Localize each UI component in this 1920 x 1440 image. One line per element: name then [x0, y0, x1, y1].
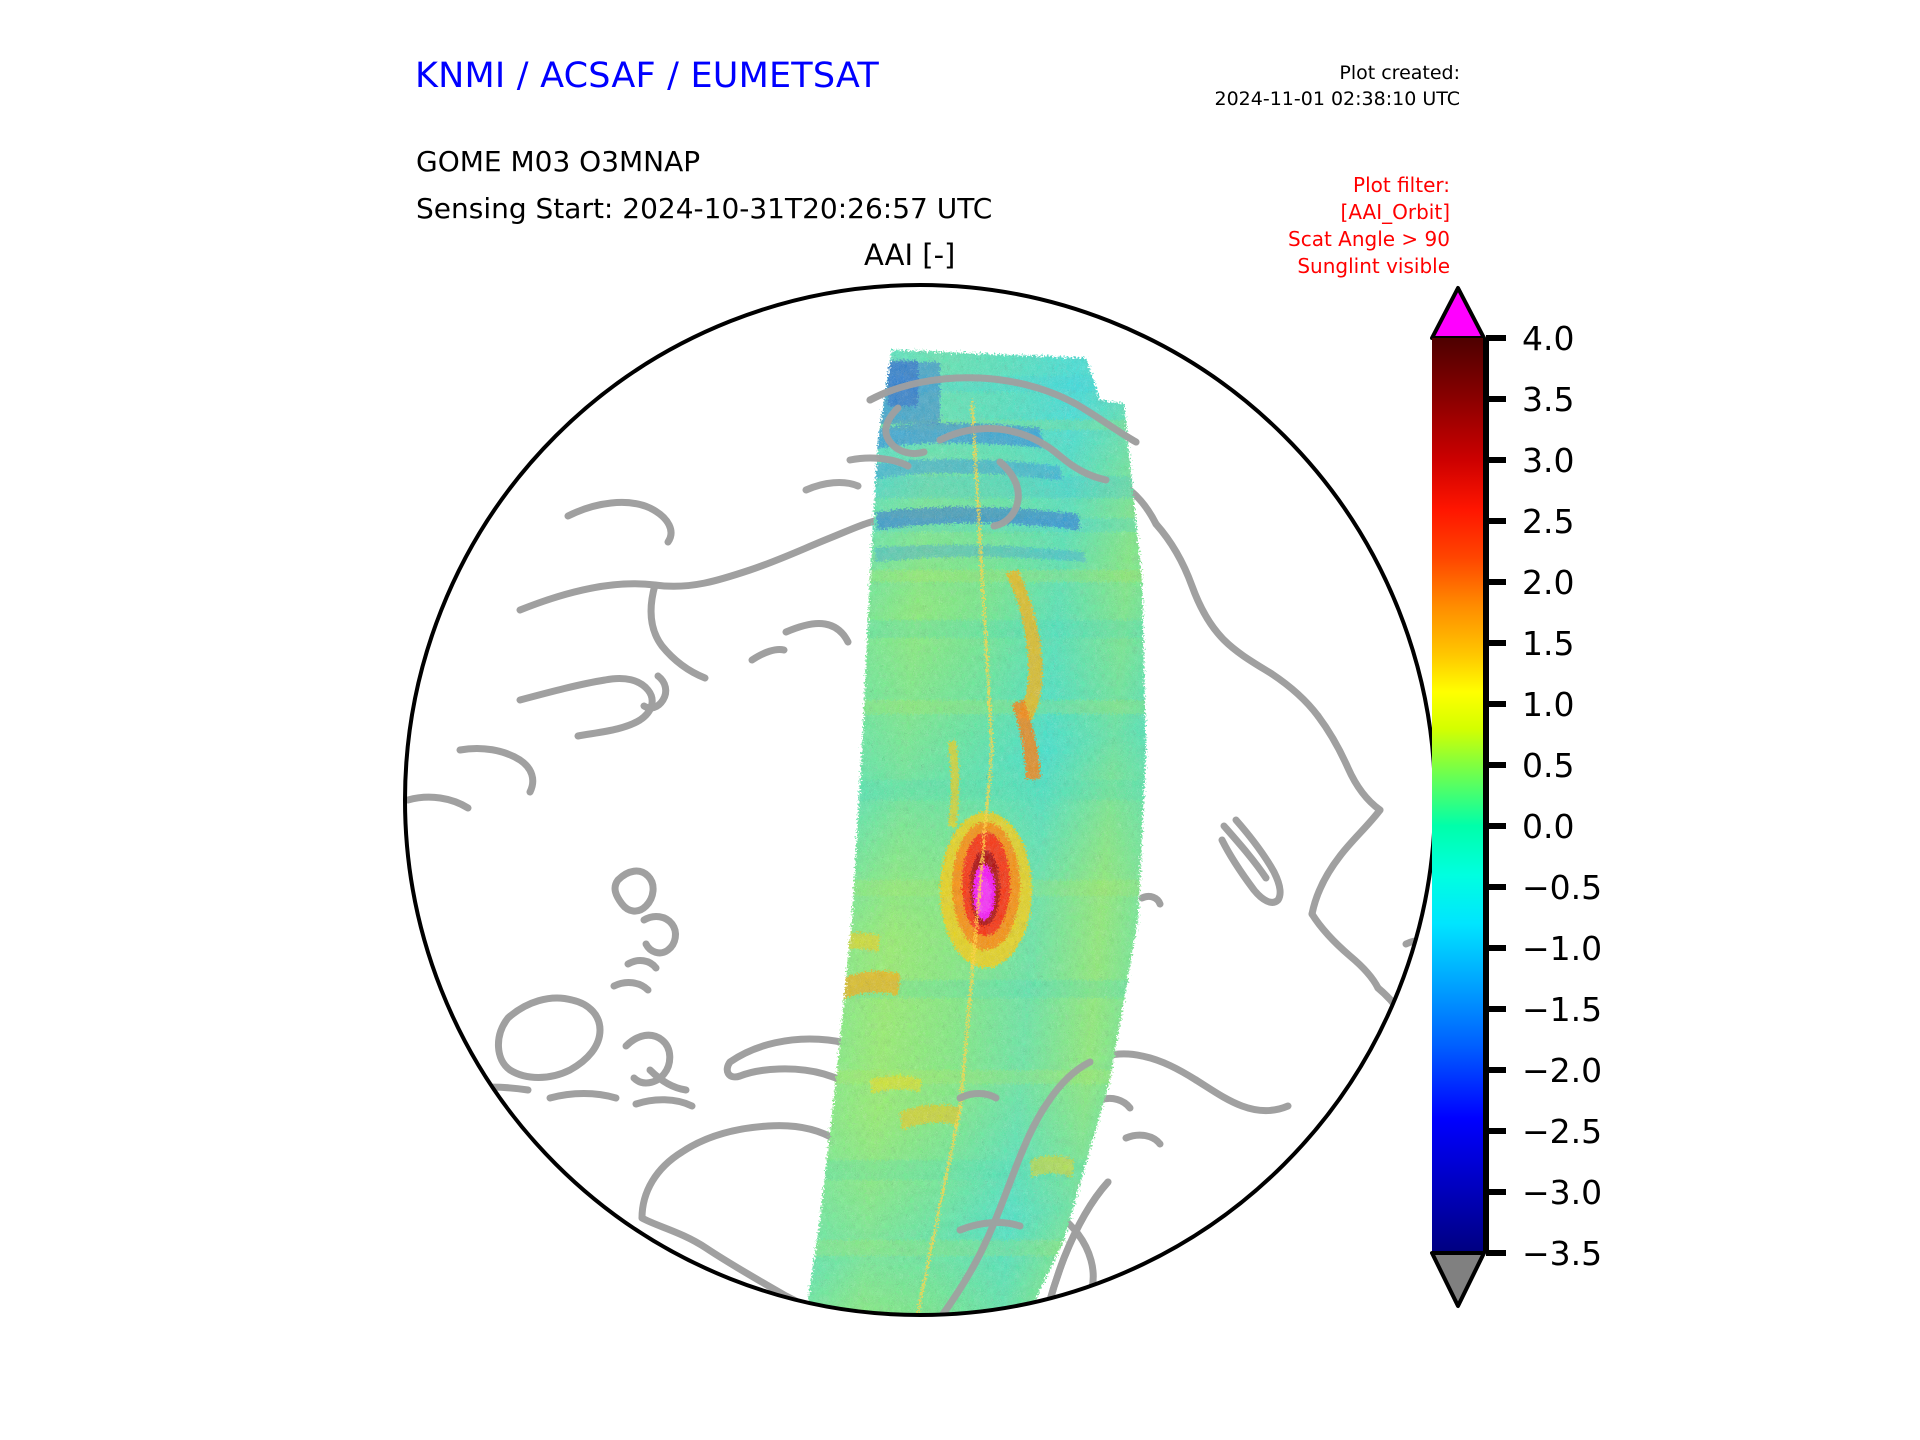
plot-page: KNMI / ACSAF / EUMETSAT Plot created: 20… — [0, 0, 1920, 1440]
colorbar-tick-label: 3.0 — [1522, 441, 1574, 480]
sensing-start-title: Sensing Start: 2024-10-31T20:26:57 UTC — [416, 192, 992, 225]
colorbar-tick-label: −2.0 — [1522, 1051, 1602, 1090]
colorbar-tick-label: −1.5 — [1522, 990, 1602, 1029]
colorbar-tick-label: 0.5 — [1522, 746, 1574, 785]
product-title: GOME M03 O3MNAP — [416, 145, 700, 178]
colorbar-under-arrow — [1432, 1253, 1484, 1306]
colorbar-tick-label: −1.0 — [1522, 929, 1602, 968]
plot-filter-label: Plot filter: — [1010, 173, 1450, 197]
colorbar-tick-label: 1.0 — [1522, 685, 1574, 724]
colorbar-tick-label: 4.0 — [1522, 319, 1574, 358]
colorbar-tick-label: −3.5 — [1522, 1234, 1602, 1273]
colorbar-tick-label: −2.5 — [1522, 1112, 1602, 1151]
colorbar-tick-label: −0.5 — [1522, 868, 1602, 907]
colorbar: 4.03.53.02.52.01.51.00.50.0−0.5−1.0−1.5−… — [1430, 280, 1730, 1340]
colorbar-tick-label: 1.5 — [1522, 624, 1574, 663]
plot-filter-dataset: [AAI_Orbit] — [1010, 200, 1450, 224]
plot-filter-scat-angle: Scat Angle > 90 — [1010, 227, 1450, 251]
plot-created-value: 2024-11-01 02:38:10 UTC — [1000, 88, 1460, 110]
colorbar-gradient — [1432, 338, 1484, 1253]
colorbar-tick-label: 0.0 — [1522, 807, 1574, 846]
colorbar-tick-label: 2.5 — [1522, 502, 1574, 541]
globe-map — [400, 280, 1440, 1320]
colorbar-ticks: 4.03.53.02.52.01.51.00.50.0−0.5−1.0−1.5−… — [1486, 319, 1602, 1273]
colorbar-over-arrow — [1432, 288, 1484, 338]
colorbar-tick-label: 3.5 — [1522, 380, 1574, 419]
quantity-title: AAI [-] — [864, 238, 955, 272]
plot-filter-sunglint: Sunglint visible — [1010, 254, 1450, 278]
plot-created-label: Plot created: — [1000, 62, 1460, 84]
organization-header: KNMI / ACSAF / EUMETSAT — [415, 56, 879, 96]
colorbar-tick-label: −3.0 — [1522, 1173, 1602, 1212]
colorbar-tick-label: 2.0 — [1522, 563, 1574, 602]
